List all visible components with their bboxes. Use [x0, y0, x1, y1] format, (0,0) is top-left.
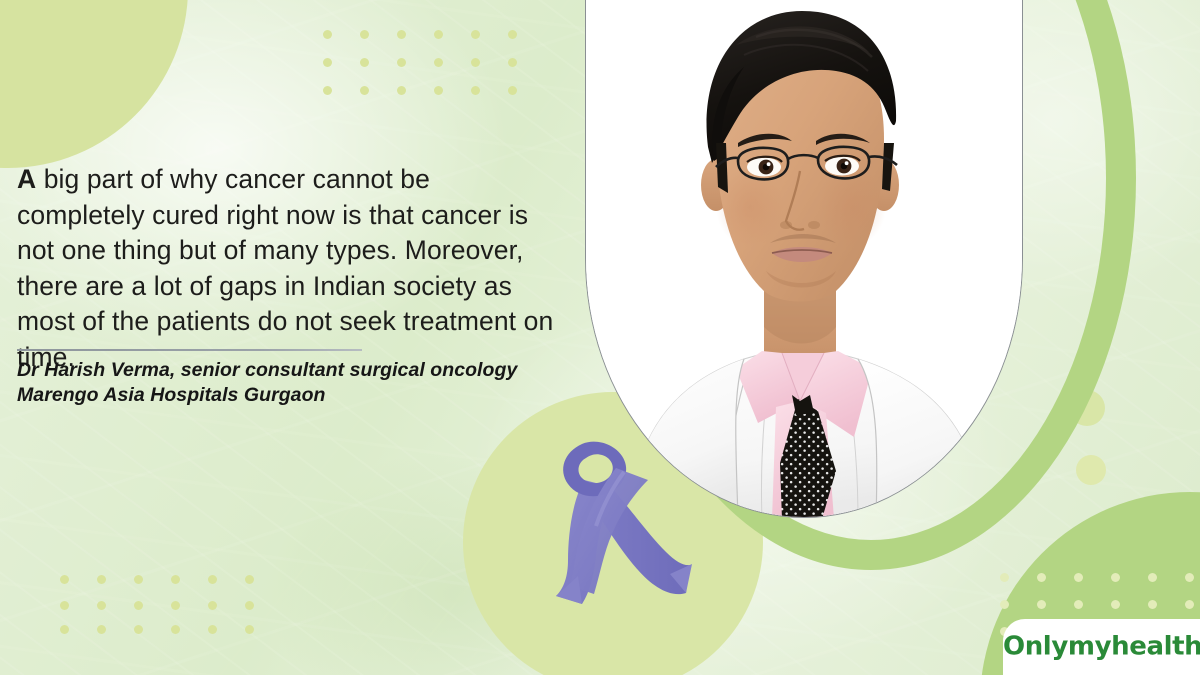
- attribution-line-2: Marengo Asia Hospitals Gurgaon: [17, 383, 592, 408]
- quote-lead-letter: A: [17, 164, 36, 194]
- logo-container: Onlymyhealth: [1003, 619, 1200, 675]
- quote-body: big part of why cancer cannot be complet…: [17, 164, 553, 372]
- decor-circle-small-lower: [1076, 455, 1106, 485]
- divider-rule: [17, 349, 362, 351]
- quote-card: A big part of why cancer cannot be compl…: [0, 0, 1200, 675]
- brand-logo-text: Onlymyhealth: [1003, 631, 1186, 661]
- awareness-ribbon-icon: [520, 408, 720, 608]
- quote-text: A big part of why cancer cannot be compl…: [17, 162, 557, 375]
- attribution: Dr Harish Verma, senior consultant surgi…: [17, 358, 592, 408]
- attribution-line-1: Dr Harish Verma, senior consultant surgi…: [17, 358, 592, 383]
